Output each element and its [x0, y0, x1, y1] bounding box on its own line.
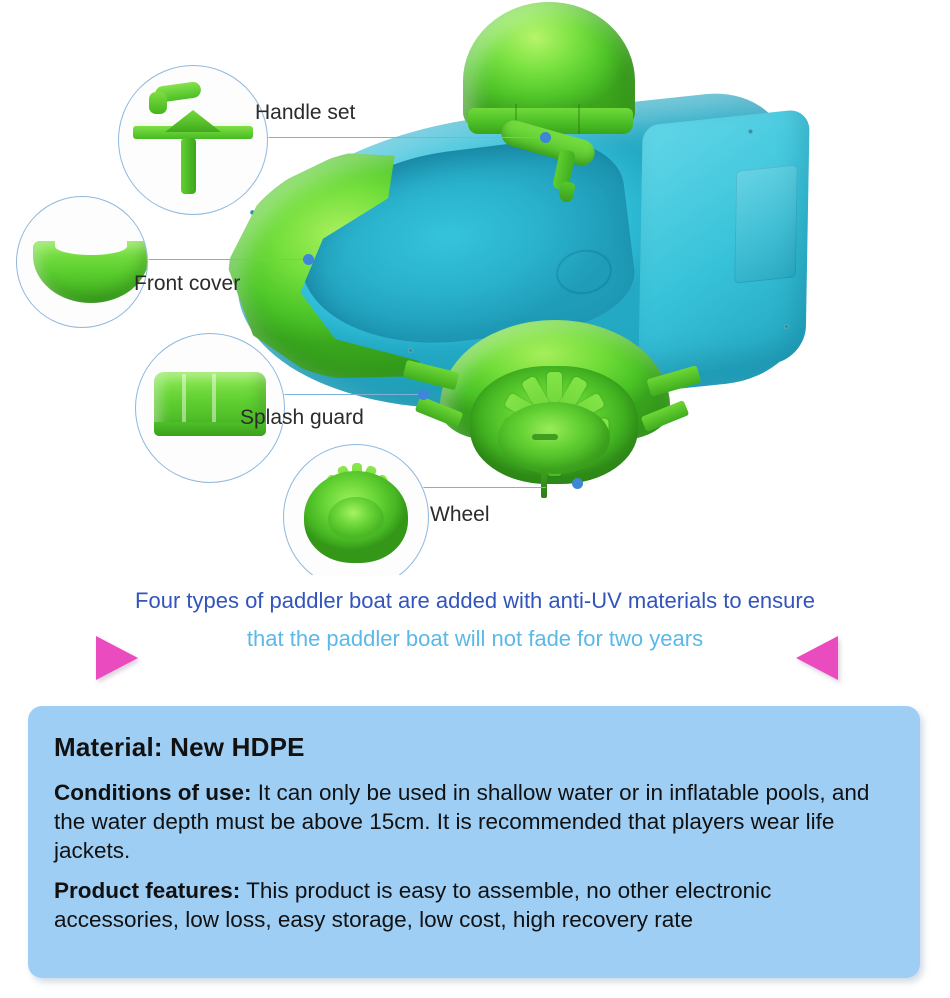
callout-label-handle-set: Handle set: [255, 101, 355, 125]
triangle-left-icon: [796, 636, 838, 680]
product-features-label: Product features:: [54, 878, 240, 903]
tagline-line-1: Four types of paddler boat are added wit…: [0, 588, 950, 614]
callout-inset-wheel: [283, 444, 429, 575]
leader-dot-splash-guard: [418, 389, 429, 400]
splash-guard-rib: [182, 374, 186, 424]
leader-dot-handle-set: [540, 132, 551, 143]
callout-label-wheel: Wheel: [430, 503, 490, 527]
wheel-shaft: [541, 470, 547, 498]
conditions-of-use-paragraph: Conditions of use: It can only be used i…: [54, 779, 894, 865]
front-cover-notch: [55, 237, 127, 255]
conditions-of-use-label: Conditions of use:: [54, 780, 251, 805]
callout-inset-front-cover: [16, 196, 148, 328]
screw-dot: [748, 129, 753, 134]
leader-line-handle-set: [236, 137, 548, 138]
product-photo: Handle set Front cover Splash guard: [0, 0, 950, 575]
leader-dot-front-cover: [303, 254, 314, 265]
splash-guard-rib: [212, 374, 216, 424]
callout-label-splash-guard: Splash guard: [240, 406, 364, 430]
callout-label-front-cover: Front cover: [134, 272, 240, 296]
stern-recessed-panel: [734, 164, 798, 283]
triangle-right-icon: [96, 636, 138, 680]
info-panel: Material: New HDPE Conditions of use: It…: [28, 706, 920, 978]
leader-line-front-cover: [132, 259, 310, 260]
canopy-seam: [578, 104, 580, 134]
handle-grip-shape: [149, 92, 167, 114]
handle-stem: [181, 138, 196, 194]
handle-wedge: [165, 110, 221, 132]
callout-inset-handle-set: [118, 65, 268, 215]
material-title: Material: New HDPE: [54, 732, 894, 763]
infographic-page: Handle set Front cover Splash guard: [0, 0, 950, 998]
wheel-hub-slot: [532, 434, 558, 440]
product-features-paragraph: Product features: This product is easy t…: [54, 877, 894, 935]
leader-dot-wheel: [572, 478, 583, 489]
inset-wheel-hub: [328, 497, 384, 541]
screw-dot: [784, 324, 789, 329]
